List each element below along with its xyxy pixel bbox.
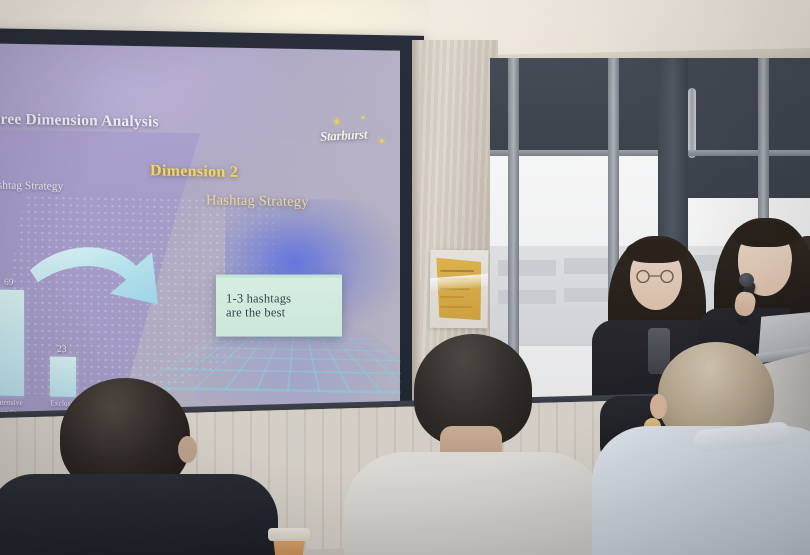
coffee-cup [268,528,310,555]
audience-dark-jacket-ear [178,436,197,463]
slide-dimension-subheading: Hashtag Strategy [206,192,309,211]
presenter-left-fringe [626,239,686,263]
presenter-right-fringe [734,221,796,247]
audience-blue-shirt [628,342,810,555]
slide-callout-text: 1-3 hashtags are the best [226,292,338,320]
bar-value-0: 69 [4,278,14,288]
coffee-cup-lid [268,528,310,541]
audience-blue-shirt-ear [650,394,667,419]
star-icon: ✦ [360,114,366,122]
blind-roller [688,88,696,158]
callout-line-2: are the best [226,306,285,320]
slide-dimension-heading: Dimension 2 [150,162,238,182]
slide-callout-box: 1-3 hashtags are the best [216,275,342,337]
starburst-logo-text: Starburst [319,126,367,144]
audience-gray-shirt [378,334,583,555]
slide-title: : Three Dimension Analysis [0,110,222,132]
eyeglasses-icon [631,270,681,283]
star-icon: ✦ [378,136,386,147]
audience-dark-jacket-body [0,474,278,555]
photo-scene: : Three Dimension Analysis by Hashtag St… [0,0,810,555]
slide-left-subtitle: by Hashtag Strategy [0,179,140,194]
star-icon: ✦ [332,115,341,128]
pillar-poster [430,250,489,329]
callout-line-1: 1-3 hashtags [226,292,291,306]
bar-value-1: 23 [57,345,67,355]
starburst-logo: ✦ ✦ ✦ Starburst [316,117,392,152]
audience-dark-jacket [18,378,248,555]
audience-gray-shirt-body [344,452,606,555]
